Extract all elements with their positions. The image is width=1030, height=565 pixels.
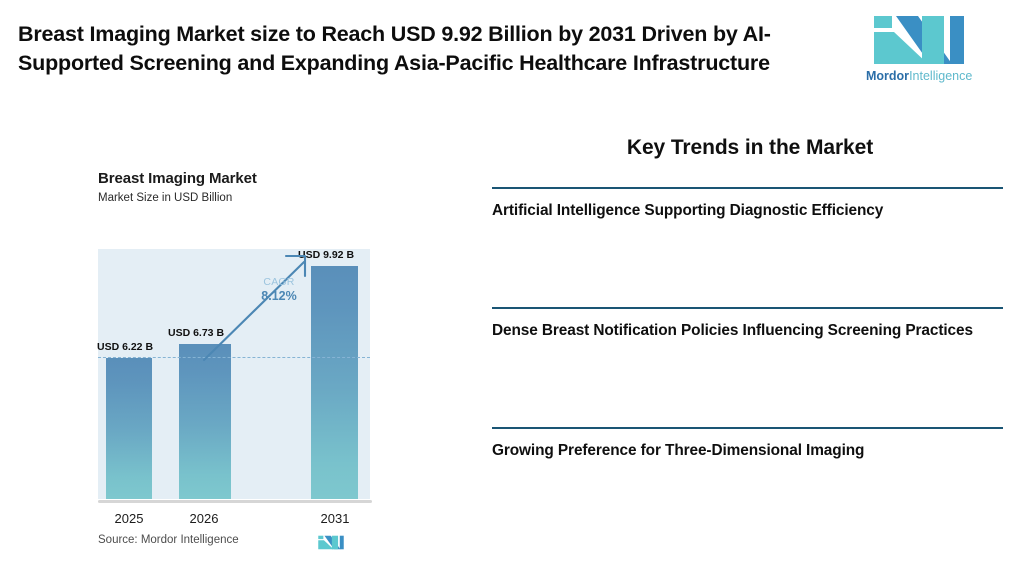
brand-wordmark: MordorIntelligence [866,70,972,83]
x-tick-2025: 2025 [100,511,158,526]
mordor-intelligence-mark-icon [316,532,346,553]
trend-item-label: Growing Preference for Three-Dimensional… [492,429,1003,461]
page-title: Breast Imaging Market size to Reach USD … [18,20,838,77]
bar-2031 [311,266,358,499]
x-tick-2031: 2031 [306,511,364,526]
x-axis-line [98,500,372,503]
bar-chart-plot: USD 6.22 B USD 6.73 B USD 9.92 B CAGR 8.… [98,212,370,499]
chart-title: Breast Imaging Market [98,170,257,187]
chart-subtitle: Market Size in USD Billion [98,192,232,204]
chart-source-text: Source: Mordor Intelligence [98,534,239,546]
x-tick-2026: 2026 [173,511,235,526]
cagr-annotation: CAGR 8.12% [250,277,308,303]
page-header: Breast Imaging Market size to Reach USD … [0,0,1030,112]
reference-dashed-line [98,357,370,358]
bar-2025 [106,358,152,499]
bar-value-label-2026: USD 6.73 B [168,327,224,339]
key-trends-heading: Key Trends in the Market [495,136,1005,160]
mi-monogram-icon [866,12,972,68]
chart-panel: Breast Imaging Market Market Size in USD… [0,112,470,565]
bar-value-label-2031: USD 9.92 B [298,249,354,261]
trend-item-2[interactable]: Dense Breast Notification Policies Influ… [492,307,1003,341]
trend-item-3[interactable]: Growing Preference for Three-Dimensional… [492,427,1003,461]
key-trends-panel: Key Trends in the Market Artificial Inte… [470,112,1030,565]
cagr-label: CAGR [250,277,308,289]
bar-value-label-2025: USD 6.22 B [97,341,153,353]
chart-source-row: Source: Mordor Intelligence [98,532,370,556]
mordor-intelligence-logo: MordorIntelligence [866,12,972,94]
brand-word-mordor: Mordor [866,69,909,83]
brand-word-intelligence: Intelligence [909,69,972,83]
bar-2026 [179,344,231,499]
trend-item-label: Artificial Intelligence Supporting Diagn… [492,189,1003,221]
trend-item-1[interactable]: Artificial Intelligence Supporting Diagn… [492,187,1003,221]
cagr-value: 8.12% [250,289,308,303]
trend-item-label: Dense Breast Notification Policies Influ… [492,309,1003,341]
